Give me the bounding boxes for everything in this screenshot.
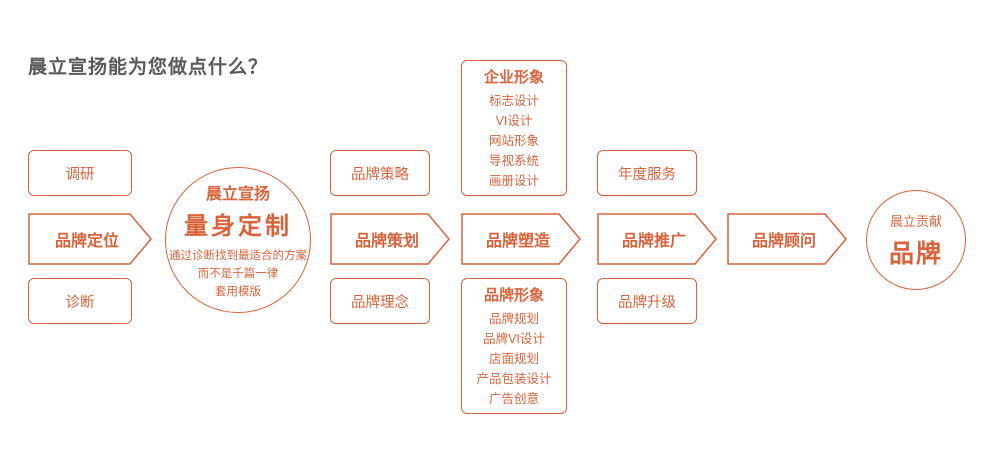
box-research: 调研 [28,150,132,196]
box-brand-upgrade: 品牌升级 [597,278,697,324]
center-circle-line2: 量身定制 [184,206,292,241]
arrow-brand-consultant: 品牌顾问 [727,213,847,265]
box-brand-image-item-3: 产品包装设计 [476,369,551,389]
box-annual-service-label: 年度服务 [618,163,676,184]
arrow-brand-positioning: 品牌定位 [28,213,152,265]
box-corporate-image-item-2: 网站形象 [489,131,539,151]
box-corporate-image-title: 企业形象 [484,66,544,87]
arrow-brand-planning: 品牌策划 [330,213,450,265]
box-brand-philosophy-label: 品牌理念 [351,291,409,312]
center-circle-line1: 晨立宣扬 [206,180,270,204]
arrow-brand-positioning-label: 品牌定位 [55,227,125,251]
box-brand-strategy-label: 品牌策略 [351,163,409,184]
box-corporate-image-item-3: 导视系统 [489,151,539,171]
end-circle-line2: 品牌 [889,234,943,270]
arrow-brand-planning-label: 品牌策划 [355,227,425,251]
arrow-brand-promotion-label: 品牌推广 [622,227,692,251]
box-diagnosis: 诊断 [28,278,132,324]
box-brand-image-item-0: 品牌规划 [489,309,539,329]
box-research-label: 调研 [66,163,95,184]
box-brand-image-item-1: 品牌VI设计 [483,329,545,349]
center-circle-line4: 而不是千篇一律 [198,265,279,283]
page-title: 晨立宣扬能为您做点什么？ [28,52,268,79]
box-corporate-image-item-0: 标志设计 [489,91,539,111]
box-corporate-image-item-4: 画册设计 [489,171,539,191]
arrow-brand-consultant-label: 品牌顾问 [752,227,822,251]
end-circle-line1: 晨立贡献 [890,211,942,230]
box-corporate-image-item-1: VI设计 [496,111,533,131]
box-brand-image-item-2: 店面规划 [489,349,539,369]
box-diagnosis-label: 诊断 [66,291,95,312]
box-brand-philosophy: 品牌理念 [330,278,430,324]
diagram-canvas: 晨立宣扬能为您做点什么？ 调研 品牌定位 诊断 晨立宣扬 量身定制 通过诊断找到… [0,0,1000,472]
box-brand-strategy: 品牌策略 [330,150,430,196]
end-circle-brand: 晨立贡献 品牌 [866,190,966,290]
center-circle-line5: 套用模版 [215,283,261,301]
box-annual-service: 年度服务 [597,150,697,196]
box-corporate-image: 企业形象 标志设计 VI设计 网站形象 导视系统 画册设计 [461,60,567,196]
box-brand-image: 品牌形象 品牌规划 品牌VI设计 店面规划 产品包装设计 广告创意 [461,278,567,414]
box-brand-image-item-4: 广告创意 [489,389,539,409]
arrow-brand-shaping: 品牌塑造 [461,213,581,265]
box-brand-upgrade-label: 品牌升级 [618,291,676,312]
center-circle-custom: 晨立宣扬 量身定制 通过诊断找到最适合的方案 而不是千篇一律 套用模版 [165,167,311,313]
box-brand-image-title: 品牌形象 [484,284,544,305]
arrow-brand-promotion: 品牌推广 [597,213,717,265]
arrow-brand-shaping-label: 品牌塑造 [486,227,556,251]
center-circle-line3: 通过诊断找到最适合的方案 [169,247,307,265]
